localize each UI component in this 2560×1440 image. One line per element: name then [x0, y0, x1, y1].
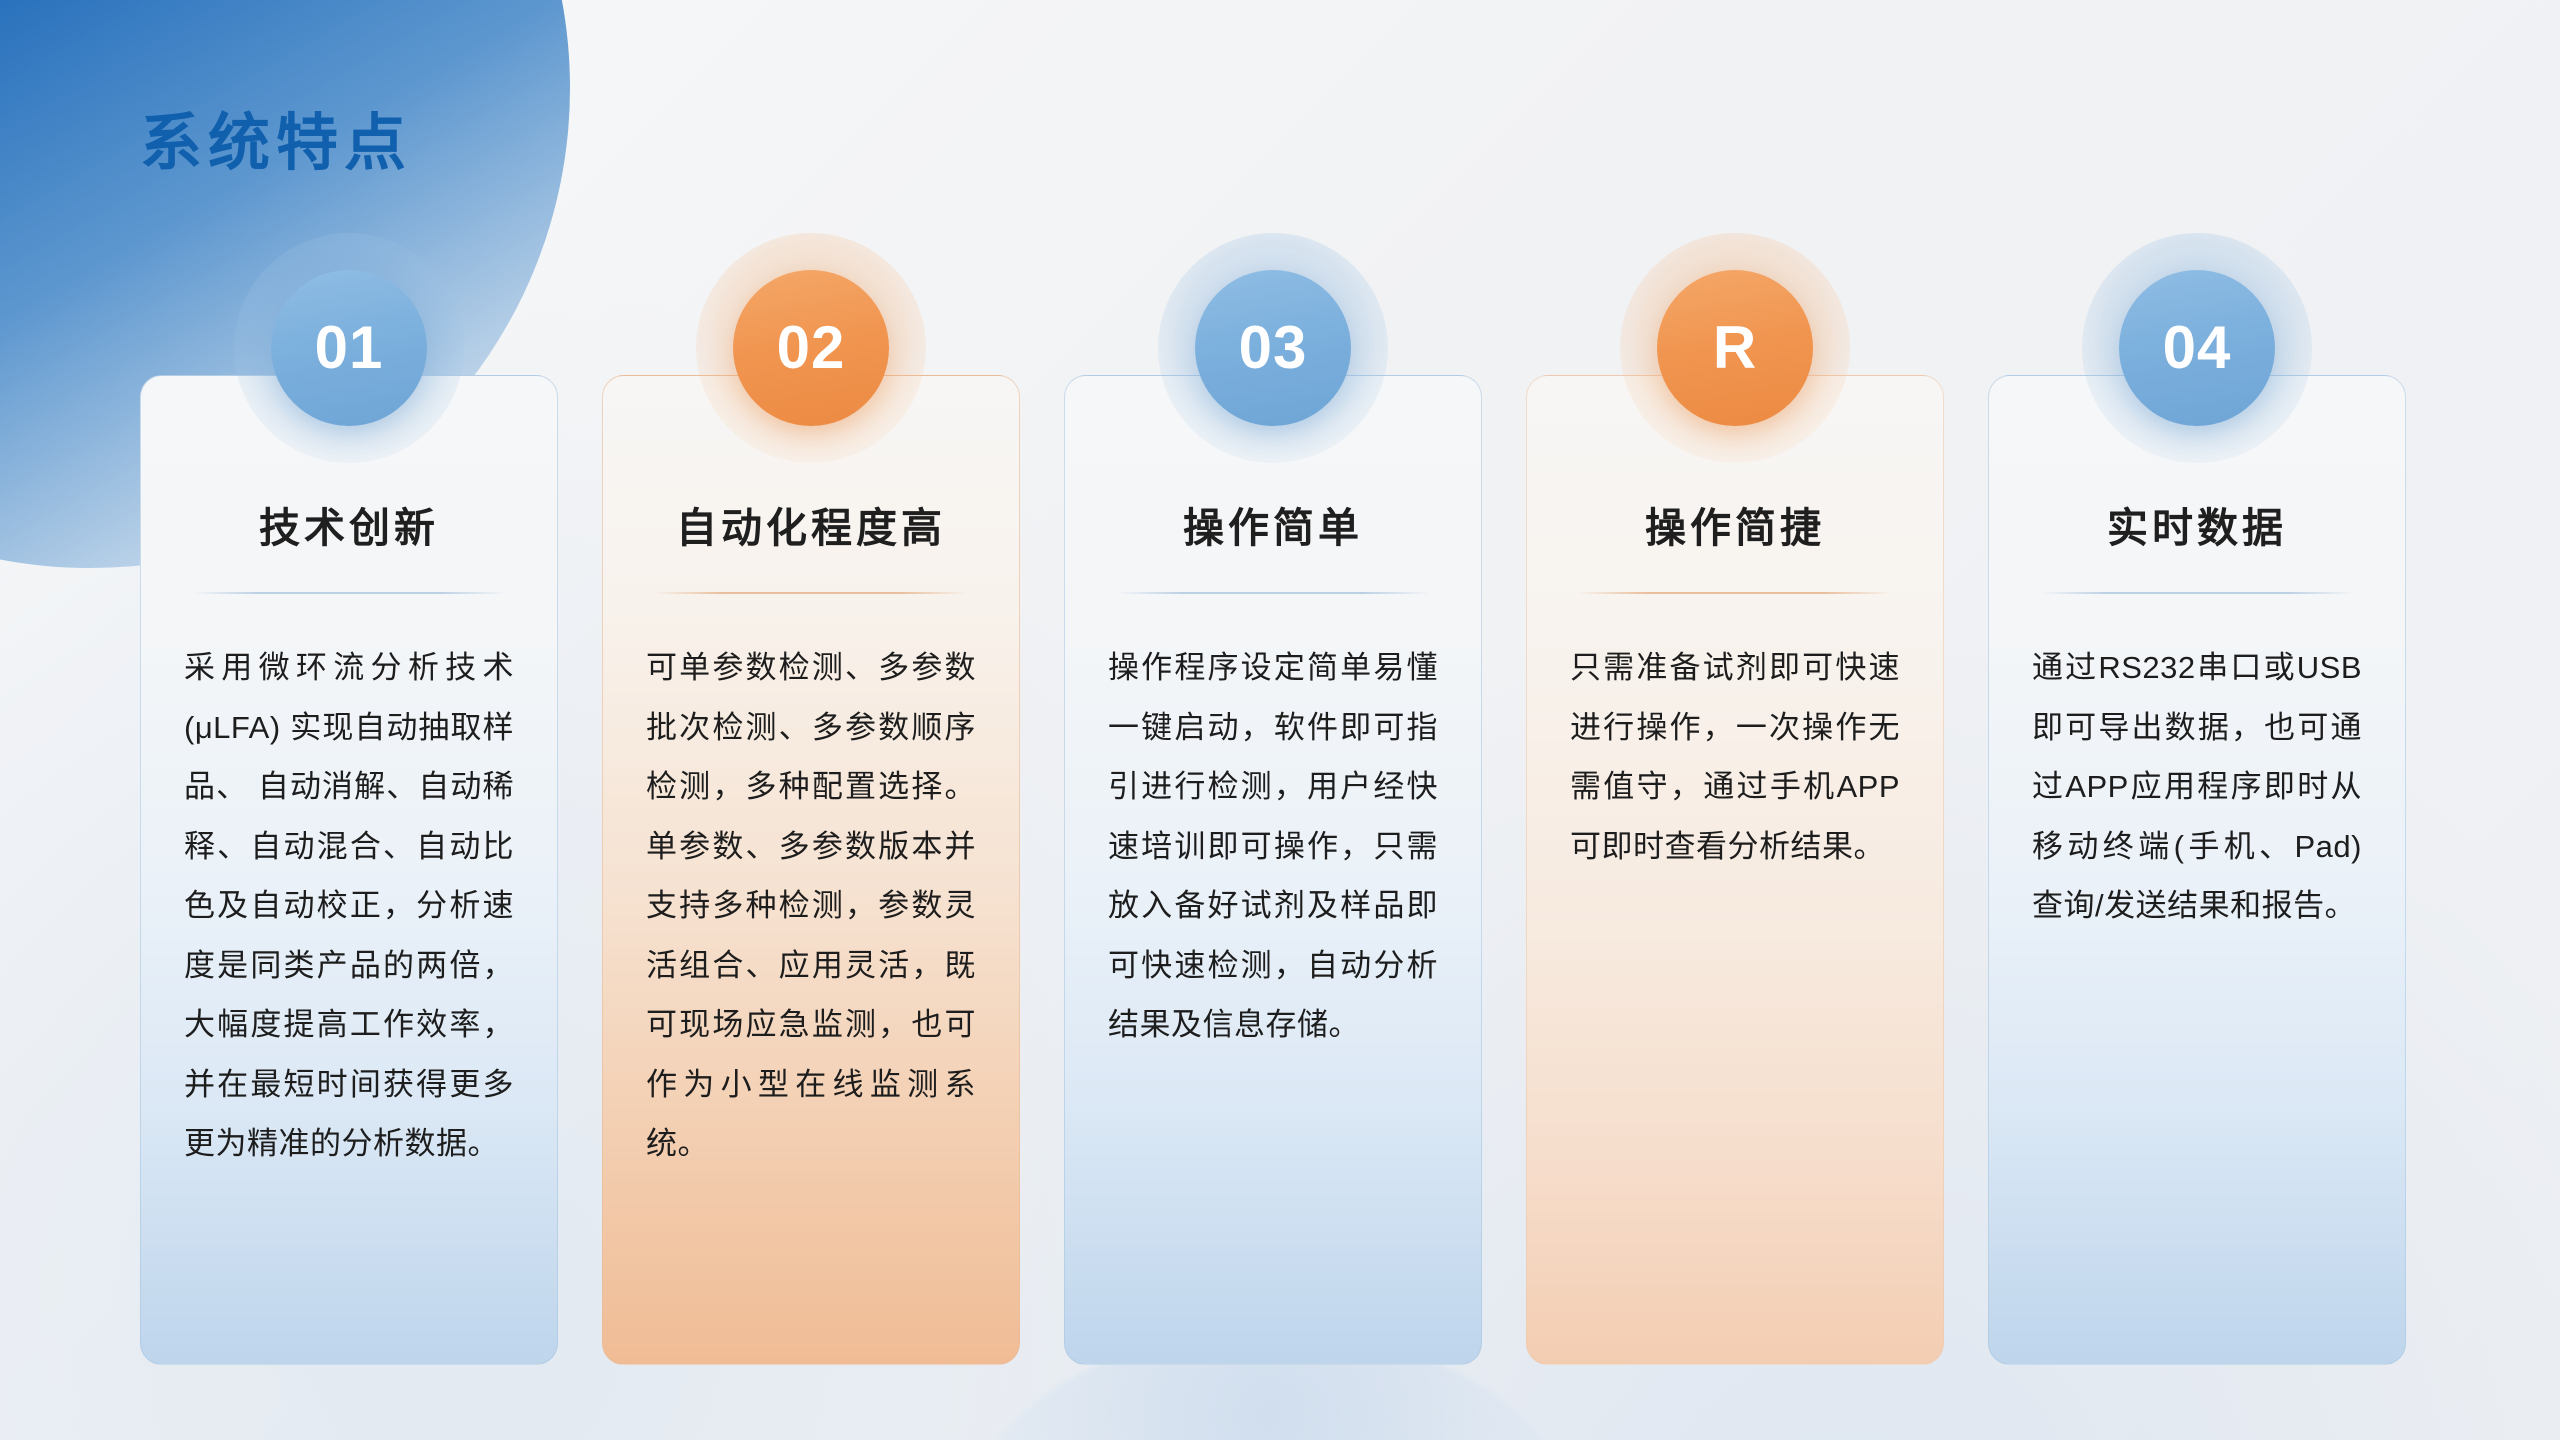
badge-container-1: 01	[234, 233, 464, 463]
card-title-2: 自动化程度高	[646, 503, 976, 554]
card-body-1: 采用微环流分析技术 (μLFA) 实现自动抽取样品、 自动消解、自动稀释、自动混…	[184, 638, 514, 1174]
card-divider-1	[192, 592, 506, 594]
badge-number-1: 01	[271, 270, 427, 426]
card-body-4: 只需准备试剂即可快速进行操作，一次操作无需值守，通过手机APP可即时查看分析结果…	[1570, 638, 1900, 876]
feature-card-grid: 01 技术创新 采用微环流分析技术 (μLFA) 实现自动抽取样品、 自动消解、…	[140, 375, 2406, 1365]
badge-number-3: 03	[1195, 270, 1351, 426]
feature-card-4: R 操作简捷 只需准备试剂即可快速进行操作，一次操作无需值守，通过手机APP可即…	[1526, 375, 1944, 1365]
card-divider-2	[654, 592, 968, 594]
card-title-1: 技术创新	[184, 503, 514, 554]
card-title-3: 操作简单	[1108, 503, 1438, 554]
card-title-5: 实时数据	[2032, 503, 2362, 554]
badge-number-2: 02	[733, 270, 889, 426]
card-divider-4	[1578, 592, 1892, 594]
card-divider-5	[2040, 592, 2354, 594]
page-title: 系统特点	[140, 110, 412, 178]
card-body-2: 可单参数检测、多参数批次检测、多参数顺序检测，多种配置选择。单参数、多参数版本并…	[646, 638, 976, 1174]
card-body-5: 通过RS232串口或USB即可导出数据，也可通过APP应用程序即时从移动终端(手…	[2032, 638, 2362, 936]
card-body-3: 操作程序设定简单易懂一键启动，软件即可指引进行检测，用户经快速培训即可操作，只需…	[1108, 638, 1438, 1055]
badge-container-2: 02	[696, 233, 926, 463]
feature-card-3: 03 操作简单 操作程序设定简单易懂一键启动，软件即可指引进行检测，用户经快速培…	[1064, 375, 1482, 1365]
badge-container-3: 03	[1158, 233, 1388, 463]
badge-container-5: 04	[2082, 233, 2312, 463]
feature-card-1: 01 技术创新 采用微环流分析技术 (μLFA) 实现自动抽取样品、 自动消解、…	[140, 375, 558, 1365]
card-title-4: 操作简捷	[1570, 503, 1900, 554]
feature-card-5: 04 实时数据 通过RS232串口或USB即可导出数据，也可通过APP应用程序即…	[1988, 375, 2406, 1365]
badge-container-4: R	[1620, 233, 1850, 463]
feature-card-2: 02 自动化程度高 可单参数检测、多参数批次检测、多参数顺序检测，多种配置选择。…	[602, 375, 1020, 1365]
badge-number-4: R	[1657, 270, 1813, 426]
slide-canvas: 系统特点 01 技术创新 采用微环流分析技术 (μLFA) 实现自动抽取样品、 …	[0, 0, 2560, 1440]
badge-number-5: 04	[2119, 270, 2275, 426]
card-divider-3	[1116, 592, 1430, 594]
